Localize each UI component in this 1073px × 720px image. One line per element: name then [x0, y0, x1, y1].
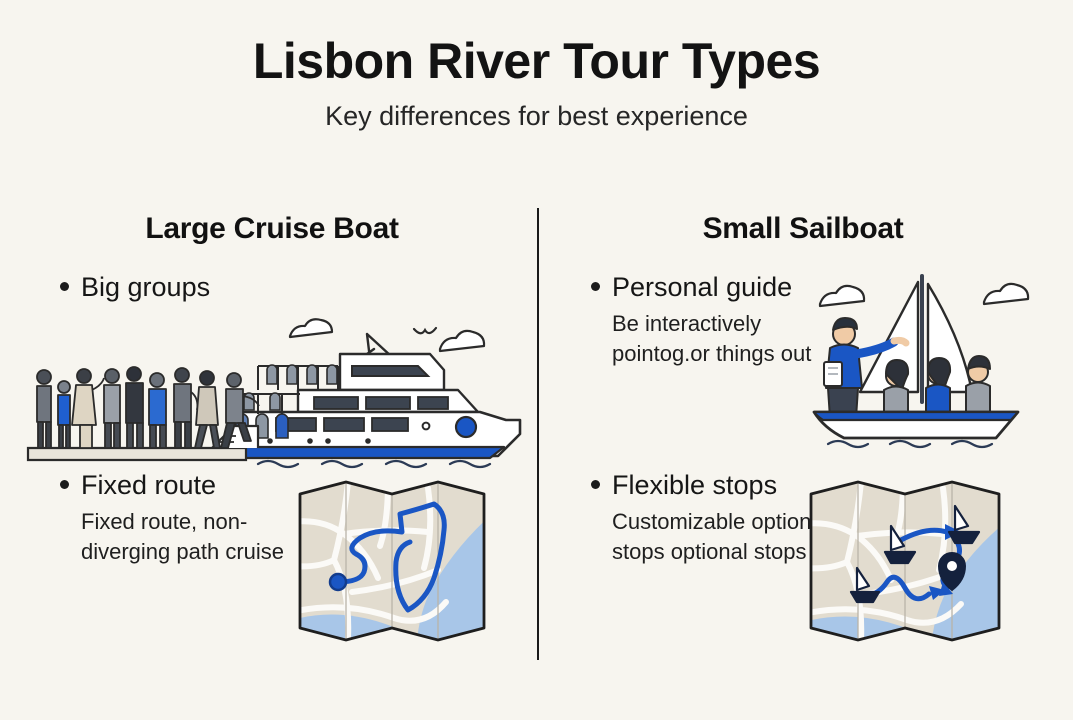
feature-flexible-stops: Flexible stops Customizable optional sto…	[553, 470, 1053, 668]
feature-big-groups: Big groups	[22, 272, 522, 470]
header: Lisbon River Tour Types Key differences …	[0, 34, 1073, 132]
illustration-folded-map-fixed-route	[292, 474, 492, 649]
bullet-dot-icon	[60, 480, 69, 489]
feature-label-big-groups: Big groups	[81, 272, 210, 303]
bullet-dot-icon	[60, 282, 69, 291]
water-waves-icon	[828, 441, 992, 447]
route-start-marker	[330, 574, 346, 590]
feature-sub-fixed-route: Fixed route, non-diverging path cruise	[81, 507, 290, 568]
feature-personal-guide: Personal guide Be interactively pointog.…	[553, 272, 1053, 470]
cloud-icon	[984, 284, 1028, 304]
cloud-icon	[290, 319, 332, 337]
feature-text-fixed-route: Fixed route Fixed route, non-diverging p…	[60, 470, 290, 568]
column-large-cruise-boat: Large Cruise Boat Big groups	[22, 212, 522, 668]
feature-fixed-route: Fixed route Fixed route, non-diverging p…	[22, 470, 522, 668]
page-subtitle: Key differences for best experience	[0, 102, 1073, 132]
cruise-ship-icon	[218, 334, 520, 458]
bullet-dot-icon	[591, 282, 600, 291]
cloud-icon	[820, 286, 864, 306]
column-heading-right: Small Sailboat	[553, 212, 1053, 246]
feature-text-big-groups: Big groups	[60, 272, 290, 303]
water-waves-icon	[258, 461, 490, 467]
column-heading-left: Large Cruise Boat	[22, 212, 522, 246]
sail-icon	[860, 276, 972, 402]
feature-label-flexible-stops: Flexible stops	[612, 470, 777, 501]
column-divider	[537, 208, 539, 660]
illustration-crowd-queue-and-cruise-ship	[22, 314, 527, 469]
bullet-dot-icon	[591, 480, 600, 489]
infographic-canvas: Lisbon River Tour Types Key differences …	[0, 0, 1073, 720]
feature-label-fixed-route: Fixed route	[81, 470, 216, 501]
page-title: Lisbon River Tour Types	[0, 34, 1073, 88]
illustration-folded-map-flexible-stops	[803, 474, 1008, 649]
bird-icon	[414, 328, 436, 333]
feature-label-personal-guide: Personal guide	[612, 272, 792, 303]
illustration-sailboat-with-guide	[798, 272, 1048, 452]
feature-text-personal-guide: Personal guide Be interactively pointog.…	[591, 272, 831, 370]
column-small-sailboat: Small Sailboat Personal guide Be interac…	[553, 212, 1053, 668]
cloud-icon	[440, 331, 484, 351]
feature-sub-flexible-stops: Customizable optional stops optional sto…	[612, 507, 831, 568]
crowd-queue-icon	[28, 367, 259, 460]
feature-text-flexible-stops: Flexible stops Customizable optional sto…	[591, 470, 831, 568]
